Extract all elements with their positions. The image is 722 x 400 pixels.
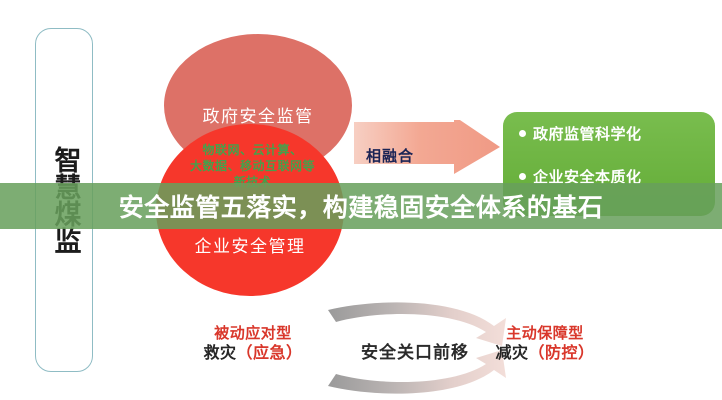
bottom-left-main-text: 救灾: [203, 343, 236, 362]
bottom-right-main: 减灾（防控）: [470, 343, 620, 363]
bottom-left-main: 救灾（应急）: [178, 343, 328, 363]
bottom-right-group: 主动保障型 减灾（防控）: [470, 324, 620, 363]
venn-overlap-line-2: 大数据、移动互联网等: [170, 158, 335, 174]
bottom-right-main-text: 减灾: [495, 343, 528, 362]
bottom-right-paren: （防控）: [529, 343, 595, 362]
result-item-1-label: 政府监管科学化: [533, 125, 642, 143]
bullet-icon: [519, 130, 526, 137]
bullet-icon: [519, 173, 526, 180]
bottom-left-group: 被动应对型 救灾（应急）: [178, 324, 328, 363]
diagram-canvas: 智慧煤监 政府安全监管 企业安全管理 物联网、云计算、 大数据、移动互联网等 新…: [0, 0, 722, 400]
venn-circle-enterprise-label: 企业安全管理: [156, 232, 344, 257]
caption-text: 安全监管五落实，构建稳固安全体系的基石: [0, 183, 722, 229]
fusion-arrow-label: 相融合: [366, 145, 414, 166]
bottom-left-title: 被动应对型: [178, 324, 328, 343]
result-item-1: 政府监管科学化: [503, 126, 715, 143]
venn-overlap-line-1: 物联网、云计算、: [170, 142, 335, 158]
venn-circle-government-label: 政府安全监管: [164, 102, 352, 127]
bottom-transition-row: 安全关口前移 被动应对型 救灾（应急） 主动保障型 减灾（防控）: [0, 300, 722, 400]
bottom-left-paren: （应急）: [237, 343, 303, 362]
bottom-right-title: 主动保障型: [470, 324, 620, 343]
